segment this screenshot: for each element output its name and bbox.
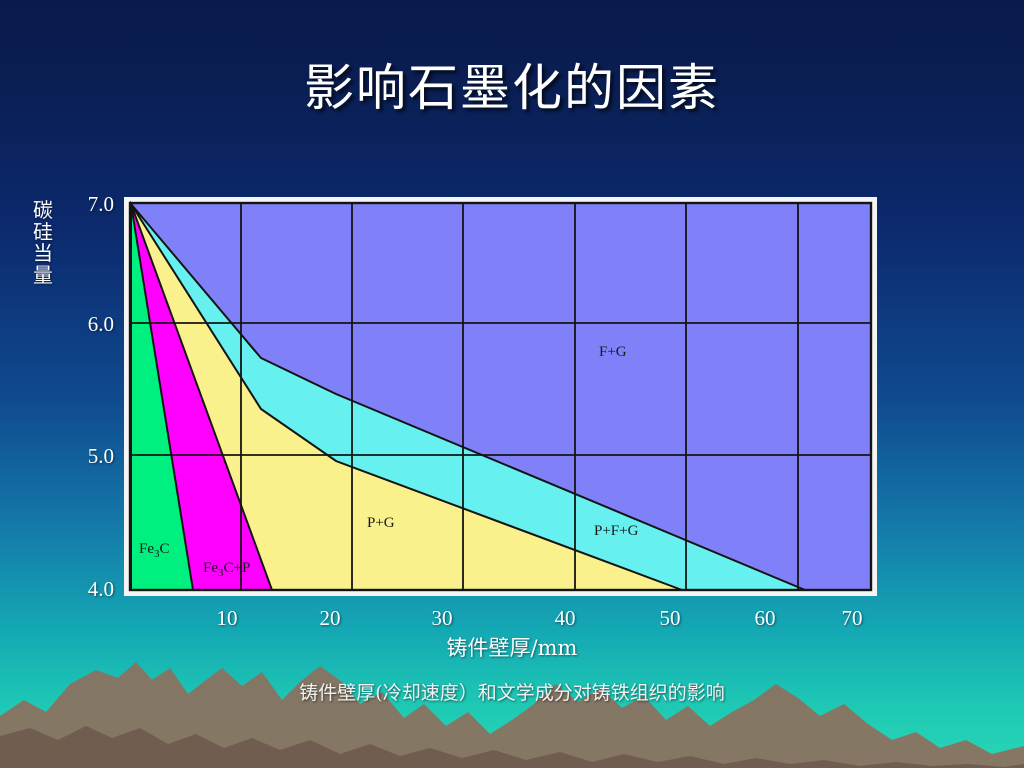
- region-label-f-plus-g: F+G: [599, 344, 627, 360]
- figure-caption: 铸件壁厚(冷却速度）和文学成分对铸铁组织的影响: [0, 678, 1024, 705]
- region-label-p-plus-f-plus-g: P+F+G: [594, 523, 639, 539]
- plot-svg: Fe3C Fe3C+P P+G P+F+G F+G: [0, 0, 1024, 768]
- region-label-p-plus-g: P+G: [367, 515, 395, 531]
- chart-container: 碳硅当量 7.0 6.0 5.0 4.0 10 20 30 40 50 60 7…: [0, 0, 1024, 768]
